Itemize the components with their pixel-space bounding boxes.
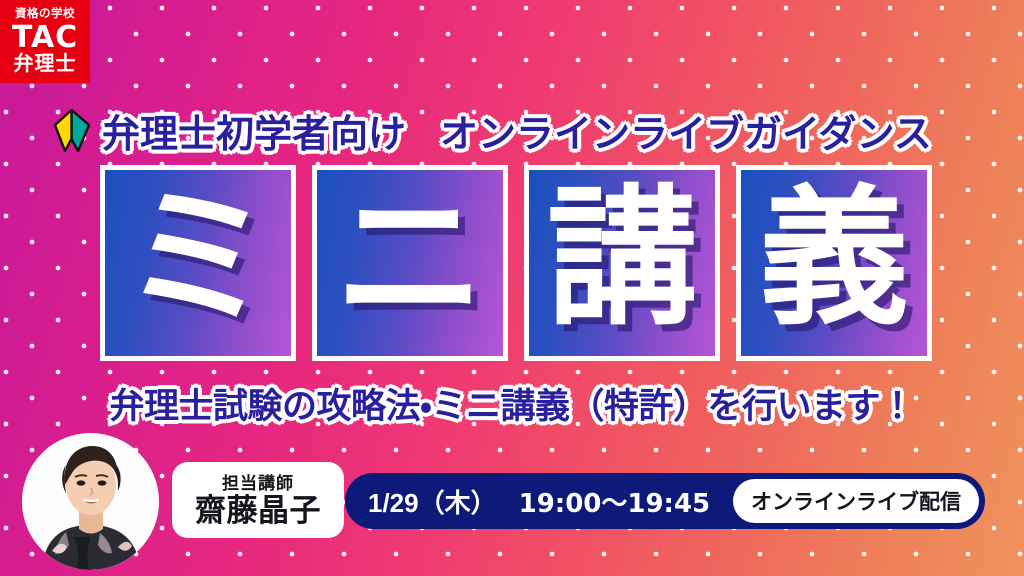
logo-subject: 弁理士 [14,54,77,74]
event-date: 1/29（木） [368,483,497,520]
subtitle-text: 弁理士試験の攻略法・ミニ講義（特許）を行います！ [110,387,915,426]
headline-right-text: オンラインライブガイダンス [440,103,932,158]
logo-brand: TAC [12,23,78,53]
instructor-portrait-photo [22,433,159,570]
title-char-box-2: ニ [312,165,508,361]
promotional-banner: 資格の学校 TAC 弁理士 弁理士初学者向け オンラインライブガイダンス ミ ニ… [0,0,1024,576]
main-title: ミ ニ 講 義 [100,165,932,361]
title-char-3: 講 [547,184,697,334]
headline: 弁理士初学者向け オンラインライブガイダンス [52,103,1002,157]
instructor-name: 齋藤晶子 [195,495,321,526]
instructor-card: 担当講師 齋藤晶子 [172,462,344,538]
instructor-role-label: 担当講師 [222,475,294,492]
status-badge: オンラインライブ配信 [733,479,979,523]
avatar [22,433,159,570]
subtitle: 弁理士試験の攻略法・ミニ講義（特許）を行います！ [0,378,1024,429]
title-char-4: 義 [759,184,909,334]
delivery-mode-label: オンラインライブ配信 [751,486,961,516]
title-char-box-4: 義 [736,165,932,361]
title-char-2: ニ [335,184,485,334]
title-char-1: ミ [123,184,273,334]
tac-logo: 資格の学校 TAC 弁理士 [0,0,90,83]
schedule-pill: 1/29（木） 19:00〜19:45 オンラインライブ配信 [345,473,985,529]
title-char-box-1: ミ [100,165,296,361]
headline-left-text: 弁理士初学者向け [102,103,406,158]
event-time: 19:00〜19:45 [519,483,711,520]
title-char-box-3: 講 [524,165,720,361]
shoshinsha-beginner-mark-icon [52,109,92,153]
